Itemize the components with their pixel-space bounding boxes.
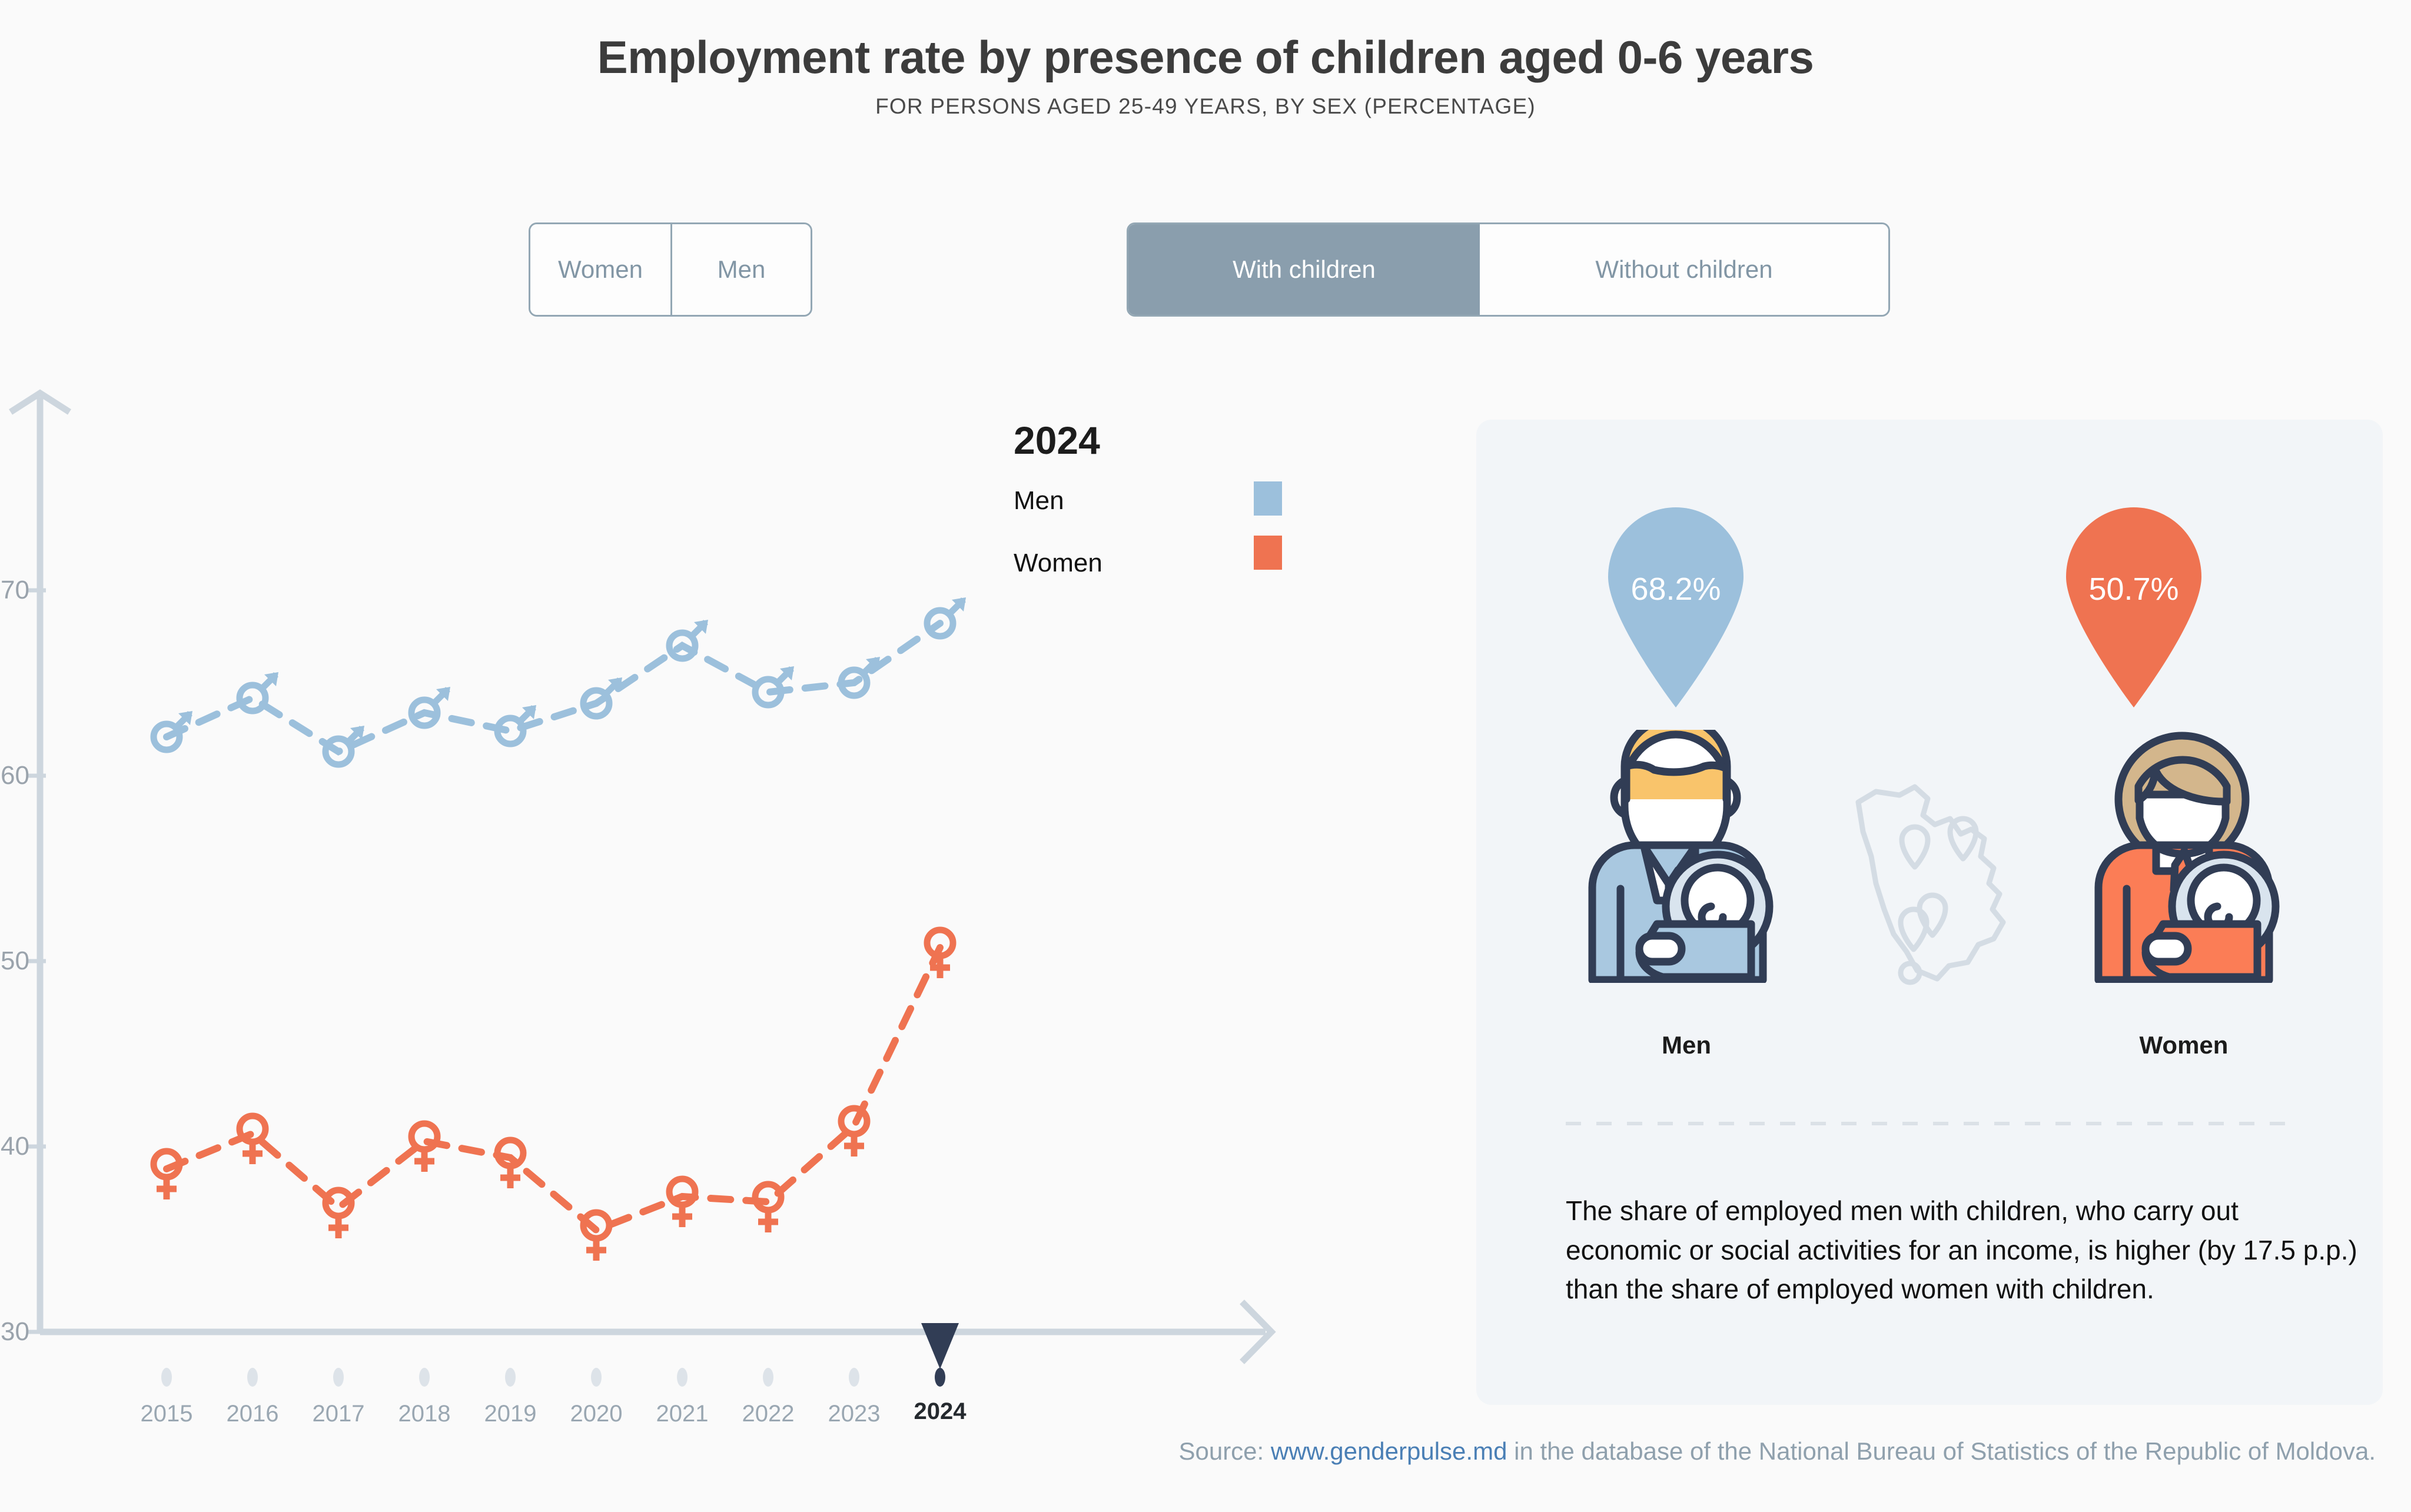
toggle-with-children[interactable]: With children — [1128, 224, 1480, 315]
women-value-pin: 50.7% — [2060, 507, 2207, 707]
women-figure-label: Women — [2066, 1031, 2302, 1059]
chart-canvas — [0, 388, 1354, 1389]
panel-description: The share of employed men with children,… — [1566, 1191, 2358, 1309]
women-series-line — [167, 948, 940, 1230]
moldova-map-icon — [1845, 768, 2040, 986]
legend-swatch-women — [1254, 536, 1282, 570]
toggle-men[interactable]: Men — [670, 224, 811, 315]
x-tick-2024[interactable]: 2024 — [896, 1398, 984, 1425]
women-pin-value: 50.7% — [2060, 571, 2207, 607]
sex-toggle-group[interactable]: Women Men — [529, 222, 812, 317]
women-data-points — [154, 930, 953, 1261]
legend-label-men: Men — [1014, 486, 1064, 516]
y-tick-50: 50 — [0, 946, 29, 976]
woman-with-baby-illustration — [2081, 730, 2287, 983]
men-series-line — [167, 623, 940, 752]
x-tick-dots — [161, 1368, 945, 1387]
toggle-without-children[interactable]: Without children — [1480, 224, 1888, 315]
toggle-women[interactable]: Women — [530, 224, 670, 315]
y-tick-40: 40 — [0, 1132, 29, 1161]
legend-swatch-men — [1254, 481, 1282, 516]
x-tick-2022[interactable]: 2022 — [724, 1401, 812, 1427]
x-tick-2015[interactable]: 2015 — [122, 1401, 211, 1427]
x-tick-2016[interactable]: 2016 — [208, 1401, 297, 1427]
x-tick-2017[interactable]: 2017 — [294, 1401, 383, 1427]
source-line: Source: www.genderpulse.md in the databa… — [0, 1437, 2376, 1466]
line-chart: 30 40 50 60 70 2015 2016 2017 2018 2019 … — [0, 388, 1354, 1389]
x-tick-2018[interactable]: 2018 — [380, 1401, 469, 1427]
men-value-pin: 68.2% — [1602, 507, 1749, 707]
source-suffix: in the database of the National Bureau o… — [1507, 1437, 2376, 1465]
y-tick-60: 60 — [0, 761, 29, 790]
infographic-page: Employment rate by presence of children … — [0, 0, 2411, 1512]
map-pin-icon — [2060, 507, 2207, 707]
source-prefix: Source: — [1178, 1437, 1270, 1465]
current-year-chevron — [921, 1323, 959, 1369]
x-tick-2021[interactable]: 2021 — [638, 1401, 726, 1427]
legend-label-women: Women — [1014, 549, 1102, 578]
men-figure-label: Men — [1569, 1031, 1804, 1059]
man-with-baby-illustration — [1575, 730, 1781, 983]
source-link[interactable]: www.genderpulse.md — [1271, 1437, 1507, 1465]
y-tick-70: 70 — [0, 576, 29, 605]
x-tick-2019[interactable]: 2019 — [466, 1401, 554, 1427]
legend-year: 2024 — [1014, 418, 1100, 463]
map-pin-icon — [1602, 507, 1749, 707]
men-pin-value: 68.2% — [1602, 571, 1749, 607]
x-tick-2023[interactable]: 2023 — [810, 1401, 898, 1427]
x-tick-2020[interactable]: 2020 — [552, 1401, 640, 1427]
page-subtitle: FOR PERSONS AGED 25-49 YEARS, BY SEX (PE… — [0, 94, 2411, 119]
y-tick-30: 30 — [0, 1317, 29, 1347]
children-toggle-group[interactable]: With children Without children — [1127, 222, 1890, 317]
page-title: Employment rate by presence of children … — [0, 31, 2411, 84]
men-data-points — [154, 597, 966, 765]
panel-divider — [1566, 1122, 2293, 1125]
